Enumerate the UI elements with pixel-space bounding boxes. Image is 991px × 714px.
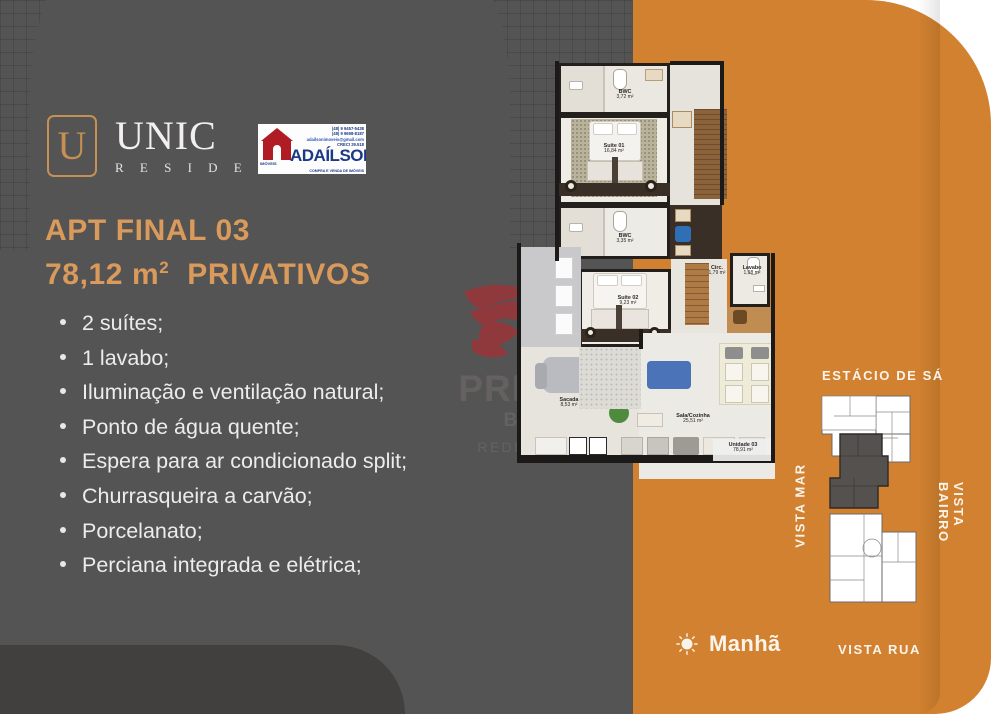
counter-icon [637,413,663,427]
orientation-key: ESTÁCIO DE SÁ VISTA MAR VISTA BAIRRO VIS… [786,368,982,658]
chair-icon [751,385,769,403]
partner-logo-caption: IMÓVEIS [260,161,277,166]
orientation-left: VISTA MAR [793,463,808,547]
marketing-flyer: U UNIC R E S I D E N C E IMÓVEIS (48) 9 … [0,0,991,714]
feature-item: Ponto de água quente; [82,412,407,444]
chair-icon [751,347,769,359]
feature-label: Iluminação e ventilação natural; [82,380,384,404]
sun-period-label: Manhã [709,631,781,657]
feature-label: Churrasqueira a carvão; [82,484,313,508]
room-label-suite-01: Suíte 01 16,84 m² [584,143,644,155]
bullet-icon [60,561,66,567]
bullet-icon [60,492,66,498]
feature-label: Perciana integrada e elétrica; [82,553,362,577]
appliance-icon [647,437,669,455]
feature-item: Porcelanato; [82,516,407,548]
counter-icon [535,437,567,455]
feature-label: Porcelanato; [82,519,203,543]
partner-tagline: COMPRA E VENDA DE IMÓVEIS [309,169,364,173]
partner-name: ADAÍLSON [290,147,366,164]
room-label-sala-cozinha: Sala/Cozinha 25,51 m² [657,413,729,425]
key-plan-lower-units [830,514,916,602]
feature-label: Ponto de água quente; [82,415,300,439]
feature-item: 1 lavabo; [82,343,407,375]
appliance-icon [621,437,643,455]
stove-icon [589,437,607,455]
headline-block: APT FINAL 03 78,12 m2 PRIVATIVOS [45,212,370,293]
area-value: 78,12 m [45,258,159,291]
room-label-bwc-lower: BWC 3,35 m² [595,233,655,245]
sink-icon [569,223,583,232]
floor-plan: BWC 3,72 m² Suíte 01 16,84 m² BWC 3,3 [517,57,777,497]
sun-icon [676,633,698,655]
feature-label: 1 lavabo; [82,346,169,370]
bullet-icon [60,423,66,429]
feature-item: Perciana integrada e elétrica; [82,550,407,582]
orientation-right: VISTA BAIRRO [936,482,966,544]
feature-label: Espera para ar condicionado split; [82,449,407,473]
room-label-unit: Unidade 03 78,91 m² [713,442,773,454]
orientation-top: ESTÁCIO DE SÁ [822,368,944,383]
room-label-bwc-top: BWC 3,72 m² [595,89,655,101]
toilet-icon [613,211,627,232]
chair-icon [725,363,743,381]
sala-rug [579,347,641,409]
bullet-icon [60,388,66,394]
features-list: 2 suítes;1 lavabo;Iluminação e ventilaçã… [50,308,407,585]
unic-logo-letter: U [58,126,87,166]
unic-logo-mark-icon: U [47,115,97,177]
area-suffix: PRIVATIVOS [187,258,370,291]
toilet-icon [613,69,627,90]
area-superscript: 2 [159,258,169,277]
feature-item: Iluminação e ventilação natural; [82,377,407,409]
stove-icon [569,437,587,455]
feature-label: 2 suítes; [82,311,163,335]
chair-icon [751,363,769,381]
orientation-bottom: VISTA RUA [838,642,921,657]
sink-icon [673,437,699,455]
room-label-suite-02: Suíte 02 9,23 m² [600,295,656,307]
bullet-icon [60,457,66,463]
apartment-title: APT FINAL 03 [45,212,370,250]
partner-contact-block: (48) 9 9457-5438 (48) 9 9698-8187 adails… [307,126,364,147]
grill-icon [733,310,747,324]
feature-item: Churrasqueira a carvão; [82,481,407,513]
sink-icon [569,81,583,90]
sofa-icon [647,361,691,389]
partner-email: adailsonimoveis@gmail.com [307,137,364,142]
feature-item: 2 suítes; [82,308,407,340]
bullet-icon [60,354,66,360]
bullet-icon [60,527,66,533]
sun-period-indicator: Manhã [676,631,781,657]
chair-icon [725,347,743,359]
cabinet-icon [645,69,663,81]
feature-item: Espera para ar condicionado split; [82,446,407,478]
bottom-dark-band-extend [0,645,230,714]
room-label-lavabo: Lavabo 1,98 m² [730,265,774,277]
area-title: 78,12 m2 PRIVATIVOS [45,256,370,294]
partner-logo: IMÓVEIS (48) 9 9457-5438 (48) 9 9698-818… [258,124,366,174]
bullet-icon [60,319,66,325]
building-key-plan [820,390,930,640]
chair-icon [725,385,743,403]
sink-icon [753,285,765,292]
